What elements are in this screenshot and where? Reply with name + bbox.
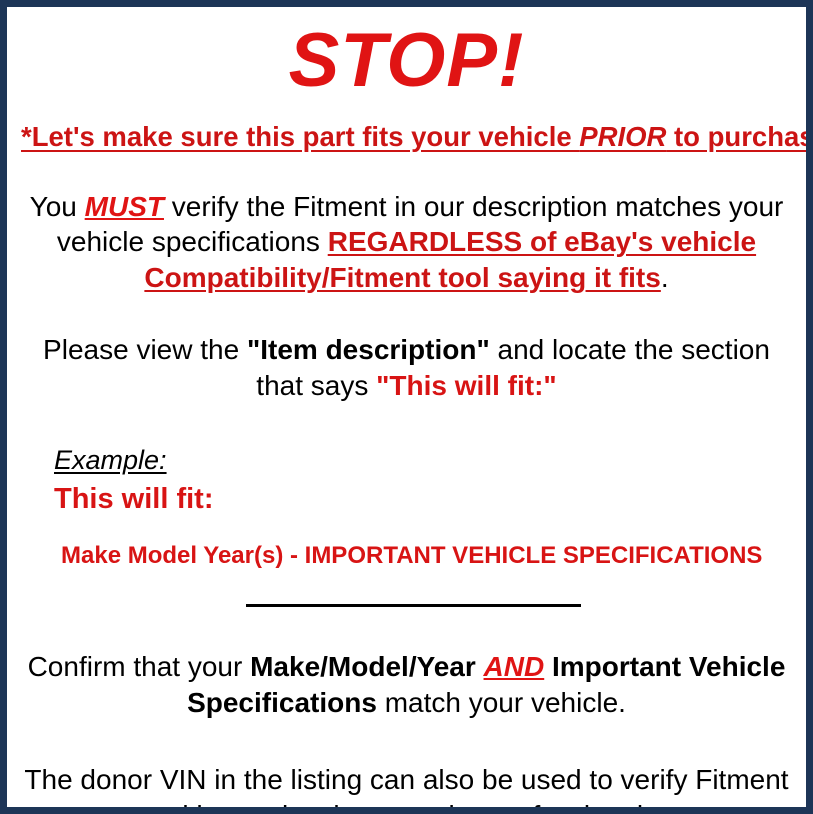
confirm-part-two: match your vehicle. [377,687,626,718]
this-will-fit-emphasis: "This will fit:" [376,370,557,401]
example-block: Example: This will fit: Make Model Year(… [21,404,792,571]
tagline-prefix: *Let's make sure this part fits your veh… [21,121,579,152]
page-title: STOP! [21,7,792,99]
must-part-one: You [30,191,85,222]
fitment-notice-card: STOP! *Let's make sure this part fits yo… [0,0,813,814]
confirm-paragraph: Confirm that your Make/Model/Year AND Im… [21,615,792,721]
example-spec-line: Make Model Year(s) - IMPORTANT VEHICLE S… [54,517,792,571]
tagline-suffix: to purchasing* [666,121,813,152]
please-view-paragraph: Please view the "Item description" and l… [21,296,792,404]
must-emphasis: MUST [85,191,164,222]
tagline-prior-emphasis: PRIOR [579,121,666,152]
must-verify-paragraph: You MUST verify the Fitment in our descr… [21,153,792,296]
donor-vin-paragraph: The donor VIN in the listing can also be… [21,720,792,814]
must-part-three: . [661,262,669,293]
divider-row [21,571,792,615]
make-model-year-emphasis: Make/Model/Year [250,651,476,682]
confirm-part-one: Confirm that your [28,651,251,682]
tagline-banner: *Let's make sure this part fits your veh… [21,99,792,153]
please-part-one: Please view the [43,334,247,365]
notice-content: STOP! *Let's make sure this part fits yo… [7,7,806,807]
example-fit-heading: This will fit: [54,476,792,517]
and-emphasis: AND [484,651,545,682]
horizontal-rule [246,604,581,607]
example-label: Example: [54,444,167,476]
item-description-emphasis: "Item description" [247,334,490,365]
example-label-row: Example: [54,444,792,476]
